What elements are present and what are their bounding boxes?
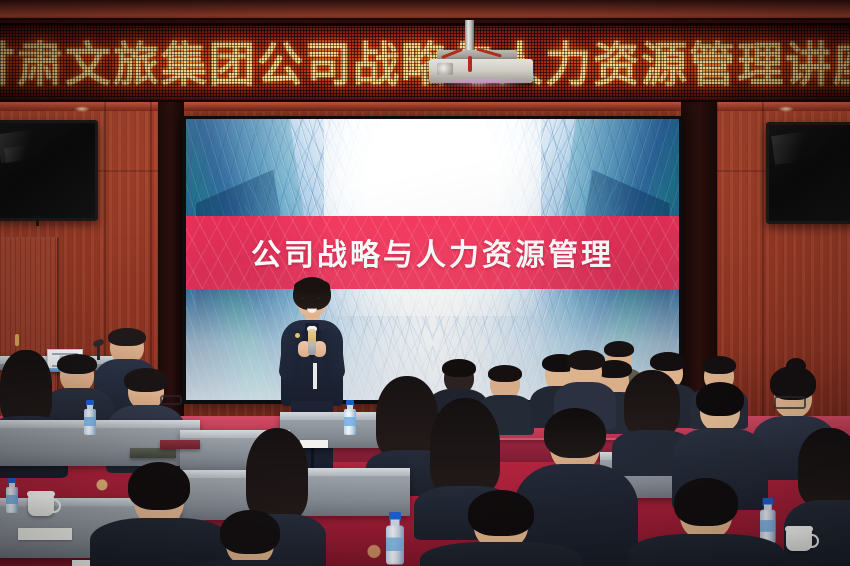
attendee-hair	[124, 368, 168, 392]
attendee-glasses	[160, 395, 182, 405]
speaker-lapel-pin	[295, 333, 300, 338]
projector-pole	[465, 20, 474, 54]
led-banner: 甘肃文旅集团公司战略与人力资源管理讲座	[0, 20, 850, 109]
attendee-hair	[108, 328, 146, 346]
teacup	[28, 495, 54, 516]
attendee-hair	[488, 365, 522, 382]
lecture-hall-photo: 甘肃文旅集团公司战略与人力资源管理讲座	[0, 0, 850, 566]
notebook	[160, 440, 200, 449]
attendee-hair	[220, 510, 280, 554]
attendee-hair-bun-knot	[786, 358, 806, 374]
door-handle[interactable]	[15, 334, 19, 346]
slide-title: 公司战略与人力资源管理	[251, 230, 614, 274]
speaker-lanyard	[313, 363, 317, 389]
attendee-hair	[57, 354, 97, 374]
projector-lens	[437, 63, 453, 75]
downlight	[778, 106, 794, 112]
attendee-hair-long	[0, 350, 52, 426]
attendee-hair	[544, 408, 606, 458]
projector-cable-3	[468, 56, 472, 72]
attendee-hair	[696, 382, 744, 416]
notebook	[130, 448, 176, 458]
downlight	[74, 106, 90, 112]
attendee-torso	[628, 534, 784, 566]
wall-tv-right	[766, 122, 850, 224]
attendee-hair	[468, 490, 534, 536]
attendee-hair	[702, 356, 736, 374]
handheld-microphone	[308, 329, 316, 355]
attendee	[430, 500, 570, 566]
speaker-eye-left	[301, 297, 305, 299]
attendee-hair	[674, 478, 738, 526]
bottle-label	[344, 417, 356, 426]
bottle-label	[6, 495, 18, 504]
tv-glare	[771, 130, 819, 165]
attendee	[190, 520, 310, 566]
attendee-hair	[442, 359, 476, 377]
bottle-label	[386, 538, 404, 552]
table-top	[0, 420, 200, 428]
teacup-lid	[27, 491, 55, 497]
attendee-torso	[420, 542, 582, 566]
projector-glow	[428, 79, 536, 88]
slide-title-band: 公司战略与人力资源管理	[186, 216, 679, 289]
attendee-hair	[650, 352, 686, 371]
attendee-torso	[182, 560, 320, 566]
ceiling-strip	[0, 0, 850, 22]
speaker-eye-right	[317, 297, 321, 299]
teacup-lid	[785, 526, 813, 532]
led-banner-text: 甘肃文旅集团公司战略与人力资源管理讲座	[9, 23, 842, 97]
attendee-hair-long	[430, 398, 500, 494]
tv-cable-left	[36, 216, 39, 226]
wall-cornice	[0, 102, 850, 111]
speaker-fringe	[294, 279, 330, 293]
attendee-hair-long	[798, 428, 850, 506]
attendee-hair-long	[624, 370, 680, 436]
bottle-label	[84, 417, 96, 426]
teacup	[786, 530, 812, 551]
attendee-glasses	[774, 396, 806, 409]
handout	[18, 528, 72, 540]
attendee-hair-long	[246, 428, 308, 520]
attendee-hair	[567, 350, 605, 370]
attendee	[640, 486, 770, 566]
attendee-hair	[128, 462, 190, 510]
wall-tv-left	[0, 120, 98, 221]
